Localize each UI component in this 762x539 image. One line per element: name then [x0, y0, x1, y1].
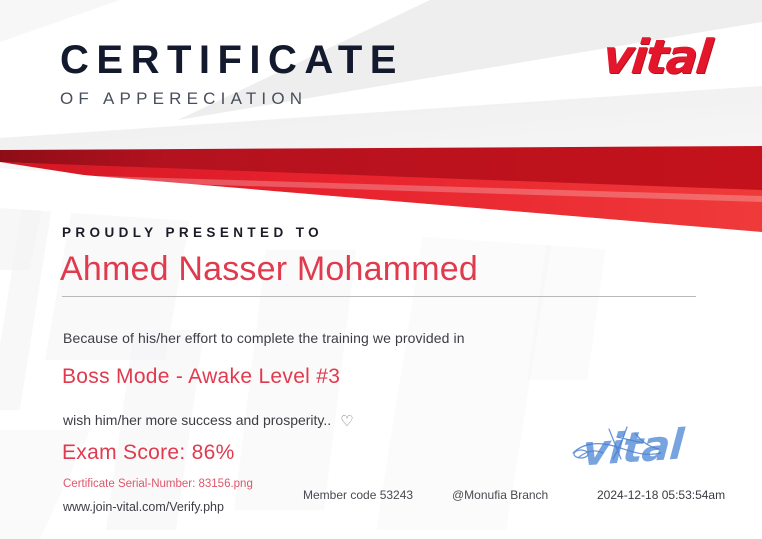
title-block: CERTIFICATE OF APPERECIATION	[60, 40, 404, 107]
certificate-serial-number: Certificate Serial-Number: 83156.png	[63, 478, 253, 490]
heart-outline-icon: ♡	[340, 412, 353, 430]
signature-stamp: vital	[565, 413, 725, 485]
branch-label: @Monufia Branch	[452, 488, 548, 502]
watermark-shape	[0, 180, 56, 410]
banner-band-bright	[0, 162, 762, 234]
course-name: Boss Mode - Awake Level #3	[62, 365, 340, 389]
issued-datetime: 2024-12-18 05:53:54am	[597, 488, 725, 502]
certificate-page: CERTIFICATE OF APPERECIATION vital PROUD…	[0, 0, 762, 539]
member-code: Member code 53243	[303, 488, 413, 502]
vital-logo: vital	[600, 34, 712, 81]
presented-to-label: PROUDLY PRESENTED TO	[62, 225, 323, 240]
signature-icon	[565, 413, 725, 485]
banner-highlight	[100, 176, 762, 202]
page-subtitle: OF APPERECIATION	[60, 90, 404, 107]
name-underline	[62, 296, 696, 297]
verify-url[interactable]: www.join-vital.com/Verify.php	[63, 500, 224, 514]
watermark-shape	[527, 200, 612, 380]
wish-text: wish him/her more success and prosperity…	[63, 412, 331, 428]
banner-undercut	[0, 168, 762, 260]
exam-score: Exam Score: 86%	[62, 441, 235, 465]
page-title: CERTIFICATE	[60, 40, 404, 80]
wish-line: wish him/her more success and prosperity…	[63, 412, 354, 430]
banner-band-dark	[0, 146, 762, 196]
recipient-name: Ahmed Nasser Mohammed	[60, 250, 478, 289]
certificate-header: CERTIFICATE OF APPERECIATION vital	[0, 0, 762, 130]
watermark-shape	[0, 150, 55, 270]
reason-text: Because of his/her effort to complete th…	[63, 330, 465, 346]
